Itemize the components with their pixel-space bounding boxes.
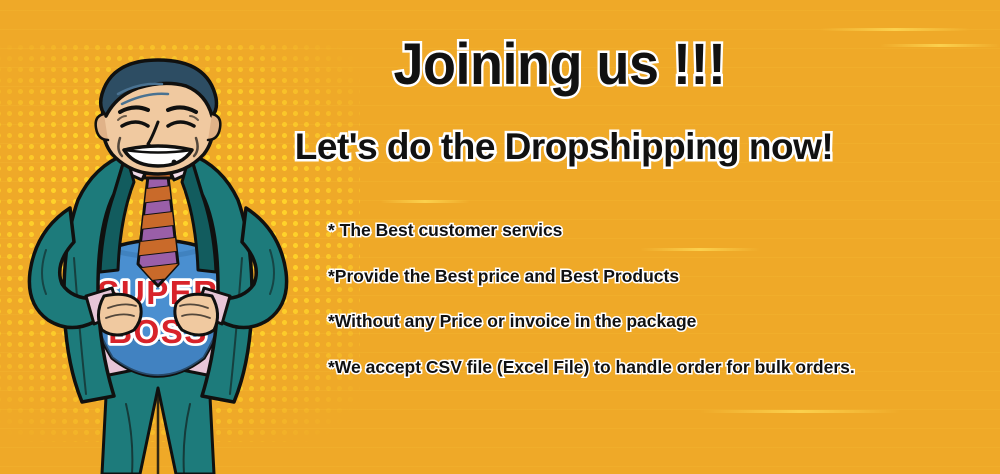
list-item: * The Best customer servics — [328, 222, 948, 240]
list-item: *Without any Price or invoice in the pac… — [328, 313, 948, 331]
speed-line — [380, 200, 470, 203]
headline-primary-text: Joining us !!! — [274, 36, 725, 94]
headline-secondary-text: Let's do the Dropshipping now! — [167, 128, 833, 165]
headline-secondary: Let's do the Dropshipping now! — [0, 128, 1000, 165]
speed-line — [700, 410, 900, 413]
businessman-illustration: SUPER BOSS — [8, 58, 308, 474]
list-item: *Provide the Best price and Best Product… — [328, 268, 948, 286]
feature-bullet-list: * The Best customer servics *Provide the… — [328, 222, 948, 376]
speed-line — [820, 28, 970, 31]
promo-banner: SUPER BOSS — [0, 0, 1000, 474]
headline-primary: Joining us !!! — [35, 36, 965, 94]
list-item: *We accept CSV file (Excel File) to hand… — [328, 359, 948, 377]
